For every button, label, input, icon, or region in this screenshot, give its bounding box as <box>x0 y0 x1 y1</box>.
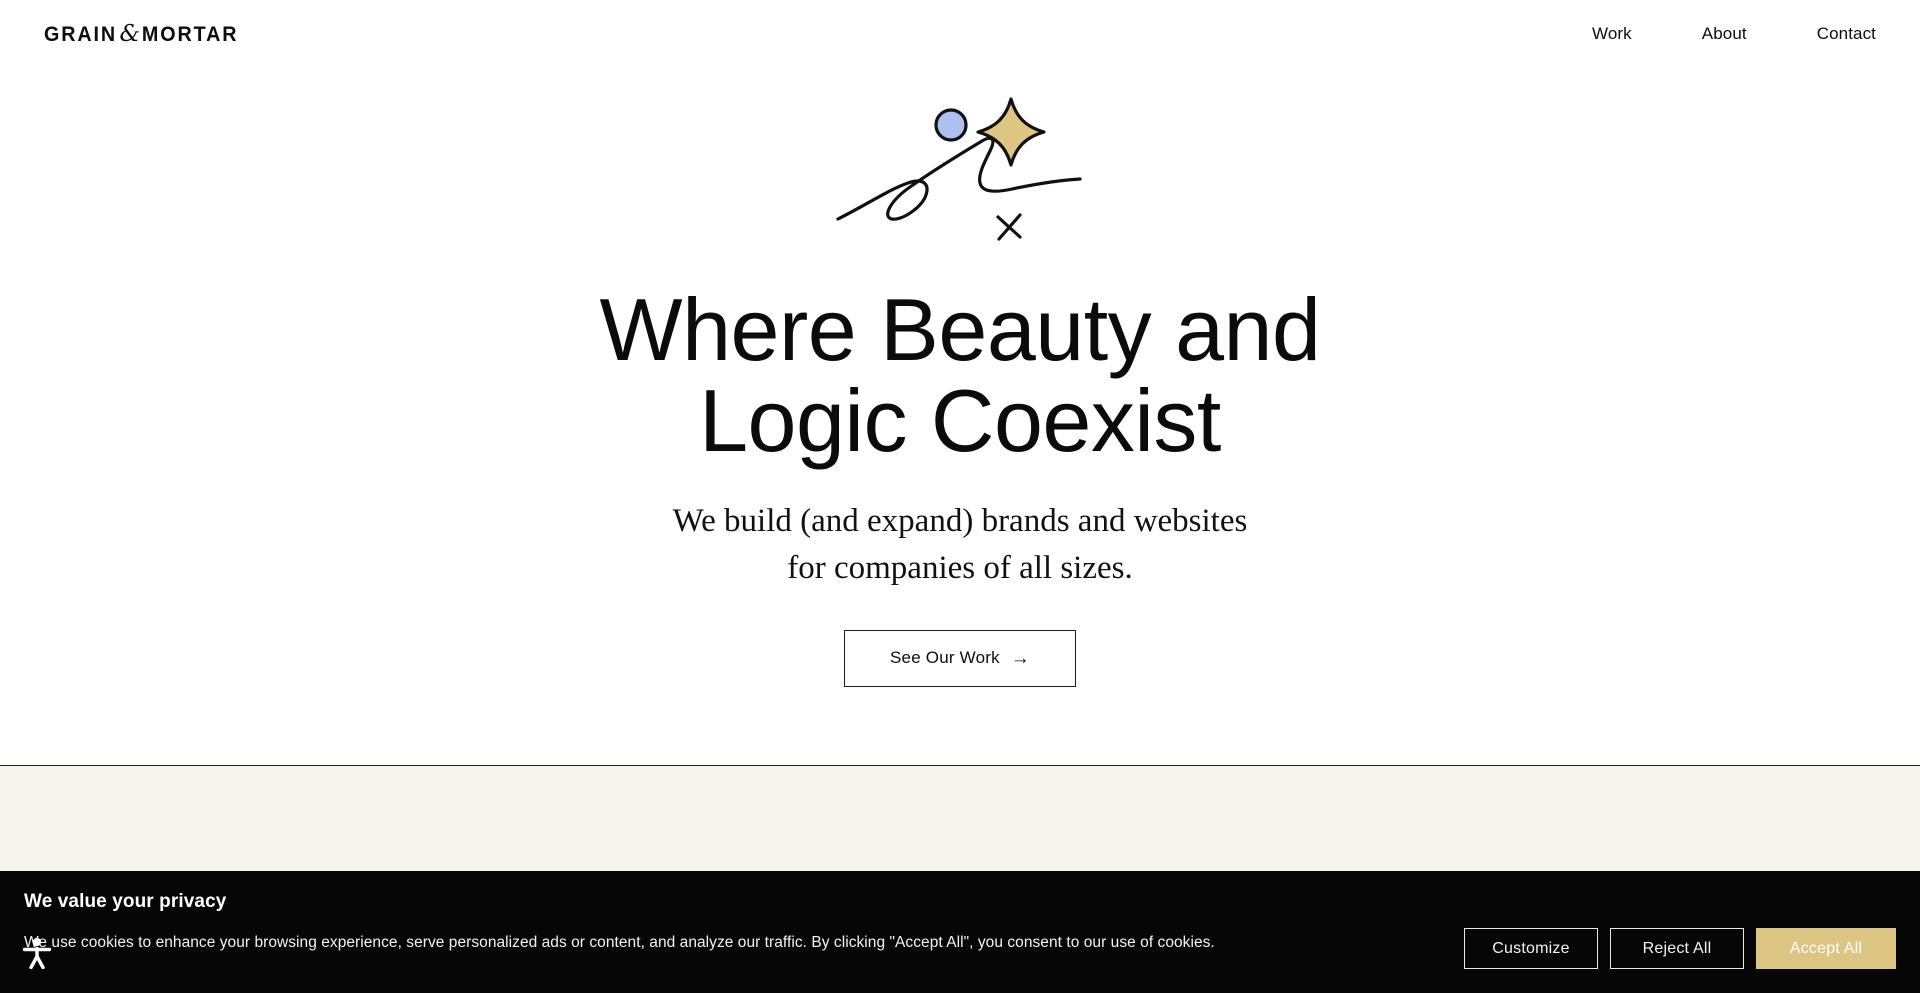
brand-logo[interactable]: GRAIN&MORTAR <box>44 23 238 46</box>
hero-subtitle: We build (and expand) brands and website… <box>673 498 1248 592</box>
cookie-reject-all-button[interactable]: Reject All <box>1610 928 1744 969</box>
hero-decorative-illustration <box>830 97 1090 257</box>
brand-logo-part1: GRAIN <box>44 24 117 45</box>
cookie-customize-button[interactable]: Customize <box>1464 928 1598 969</box>
hero-title-line-2: Logic Coexist <box>600 376 1321 467</box>
cookie-banner-description: We use cookies to enhance your browsing … <box>24 933 1215 954</box>
nav-link-about[interactable]: About <box>1702 16 1747 52</box>
arrow-right-icon: → <box>1011 649 1030 668</box>
squiggle-star-circle-icon <box>830 97 1090 257</box>
accessibility-widget-button[interactable] <box>20 935 54 971</box>
accessibility-person-icon <box>22 937 52 969</box>
cookie-accept-all-button[interactable]: Accept All <box>1756 928 1896 969</box>
brand-logo-part2: MORTAR <box>142 24 238 45</box>
hero-title-line-1: Where Beauty and <box>600 285 1321 376</box>
main-navigation: Work About Contact <box>1592 16 1876 52</box>
nav-link-contact[interactable]: Contact <box>1817 16 1876 52</box>
hero-subtitle-line-1: We build (and expand) brands and website… <box>673 498 1248 545</box>
nav-link-work[interactable]: Work <box>1592 16 1632 52</box>
hero-subtitle-line-2: for companies of all sizes. <box>673 545 1248 592</box>
cookie-banner-actions: Customize Reject All Accept All <box>1464 928 1896 969</box>
see-our-work-label: See Our Work <box>890 648 1000 668</box>
hero-title: Where Beauty and Logic Coexist <box>600 285 1321 466</box>
cookie-banner-heading: We value your privacy <box>24 891 1896 913</box>
site-header: GRAIN&MORTAR Work About Contact <box>0 0 1920 68</box>
brand-logo-ampersand: & <box>119 23 139 46</box>
see-our-work-button[interactable]: See Our Work → <box>844 630 1076 687</box>
hero-section: Where Beauty and Logic Coexist We build … <box>0 68 1920 765</box>
